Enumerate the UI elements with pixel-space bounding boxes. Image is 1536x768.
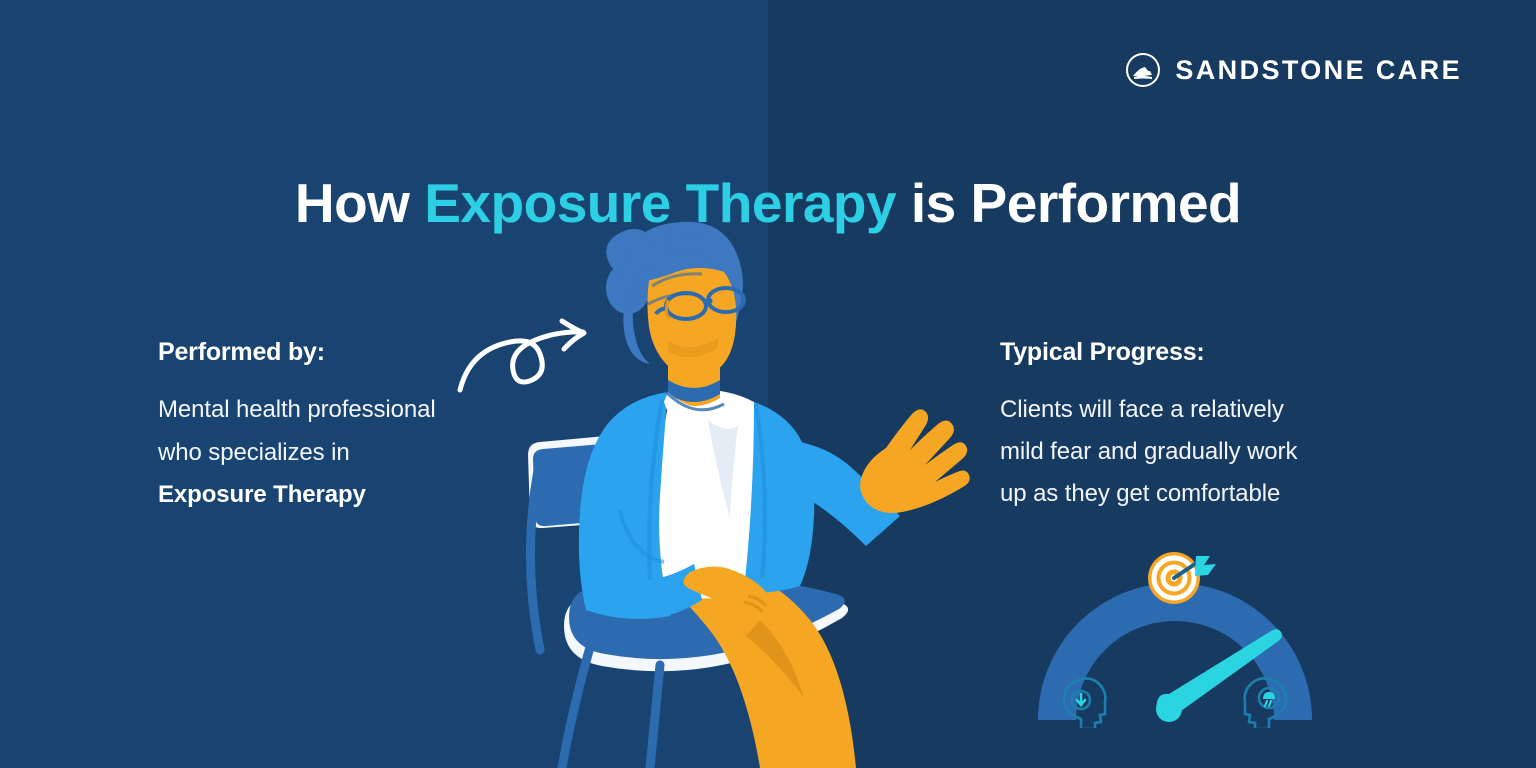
performed-by-line-2: who specializes in: [158, 432, 518, 475]
left-text-column: Performed by: Mental health professional…: [158, 337, 518, 517]
typical-progress-line-1: Clients will face a relatively: [1000, 389, 1380, 431]
title-accent: Exposure Therapy: [424, 172, 896, 234]
typical-progress-line-3: up as they get comfortable: [1000, 473, 1380, 515]
title-part-1: How: [295, 172, 424, 234]
page-title: How Exposure Therapy is Performed: [0, 173, 1536, 234]
progress-gauge-graphic: [1030, 548, 1320, 728]
title-part-2: is Performed: [896, 172, 1241, 234]
typical-progress-heading: Typical Progress:: [1000, 337, 1380, 367]
right-text-column: Typical Progress: Clients will face a re…: [1000, 337, 1380, 516]
sandstone-layers-circle-icon: [1125, 52, 1161, 88]
infographic-canvas: SANDSTONE CARE How Exposure Therapy is P…: [0, 0, 1536, 768]
performed-by-line-3: Exposure Therapy: [158, 474, 518, 517]
brand-logo-text: SANDSTONE CARE: [1175, 57, 1462, 84]
performed-by-heading: Performed by:: [158, 337, 518, 367]
brand-logo[interactable]: SANDSTONE CARE: [1125, 52, 1462, 88]
gauge-needle: [1156, 629, 1282, 722]
performed-by-line-1: Mental health professional: [158, 389, 518, 432]
typical-progress-line-2: mild fear and gradually work: [1000, 431, 1380, 473]
